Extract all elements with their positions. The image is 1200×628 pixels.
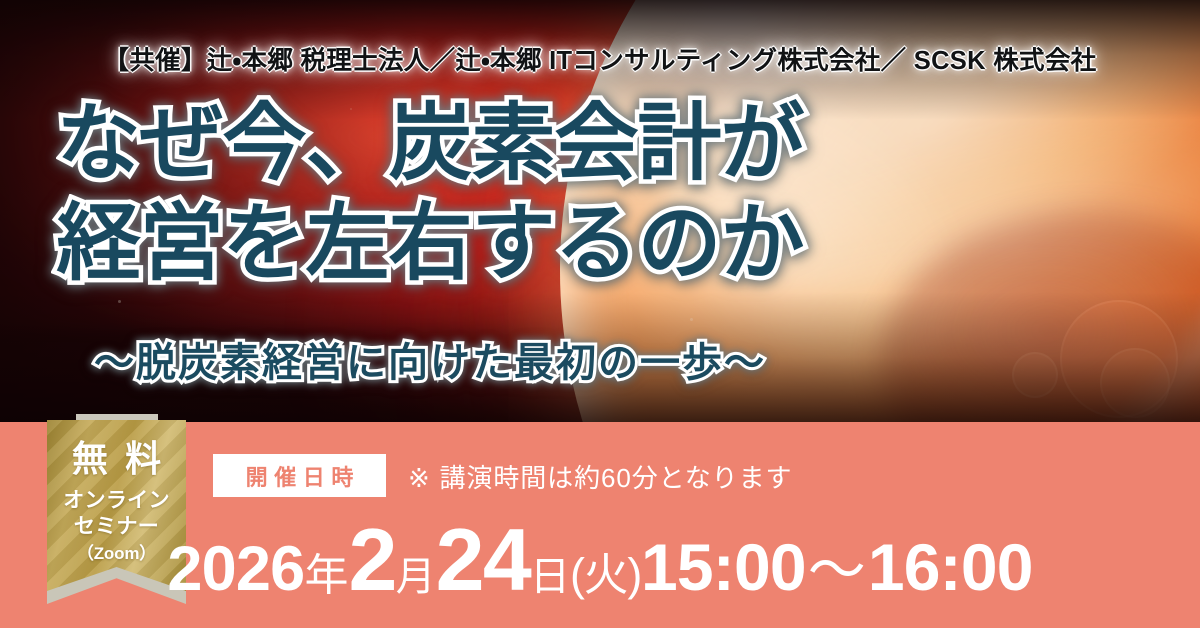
title-line-2: 経営を左右するのか bbox=[0, 196, 860, 292]
event-datetime-chip-label: 開催日時 bbox=[239, 460, 360, 492]
note-asterisk-icon: ※ bbox=[408, 463, 431, 493]
cohost-text: 【共催】辻・本郷 税理士法人／辻・本郷 ITコンサルティング株式会社／ SCSK… bbox=[104, 40, 1097, 77]
event-datetime-chip: 開催日時 bbox=[213, 454, 386, 497]
ribbon-format-line-1: オンライン bbox=[63, 488, 170, 514]
event-datetime: 2026 年 2 月 24 日 (火) 15:00 〜 16:00 bbox=[0, 516, 1200, 616]
day-number: 24 bbox=[436, 516, 530, 604]
cohost-line: 【共催】辻・本郷 税理士法人／辻・本郷 ITコンサルティング株式会社／ SCSK… bbox=[0, 39, 1200, 77]
month-unit: 月 bbox=[396, 557, 436, 597]
weekday-label: (火) bbox=[570, 552, 641, 597]
year-number: 2026 bbox=[167, 538, 304, 601]
day-unit: 日 bbox=[530, 557, 570, 597]
subtitle-text: 〜脱炭素経営に向けた最初の一歩〜 bbox=[94, 341, 766, 385]
seminar-banner: 【共催】辻・本郷 税理士法人／辻・本郷 ITコンサルティング株式会社／ SCSK… bbox=[0, 0, 1200, 628]
year-unit: 年 bbox=[304, 554, 348, 598]
page-subtitle: 〜脱炭素経営に向けた最初の一歩〜 bbox=[0, 330, 860, 388]
ribbon-free-label: 無 料 bbox=[68, 441, 164, 477]
note-text: 講演時間は約60分となります bbox=[440, 463, 793, 493]
page-title: なぜ今、炭素会計が 経営を左右するのか bbox=[0, 96, 860, 292]
time-separator: 〜 bbox=[806, 542, 868, 600]
footer-bar: 無 料 オンライン セミナー （Zoom） 開催日時 ※講演時間は約60分となり… bbox=[0, 422, 1200, 628]
month-number: 2 bbox=[348, 516, 395, 604]
time-end: 16:00 bbox=[868, 534, 1033, 600]
duration-note: ※講演時間は約60分となります bbox=[408, 458, 792, 495]
time-start: 15:00 bbox=[641, 534, 806, 600]
title-line-1: なぜ今、炭素会計が bbox=[0, 96, 860, 192]
